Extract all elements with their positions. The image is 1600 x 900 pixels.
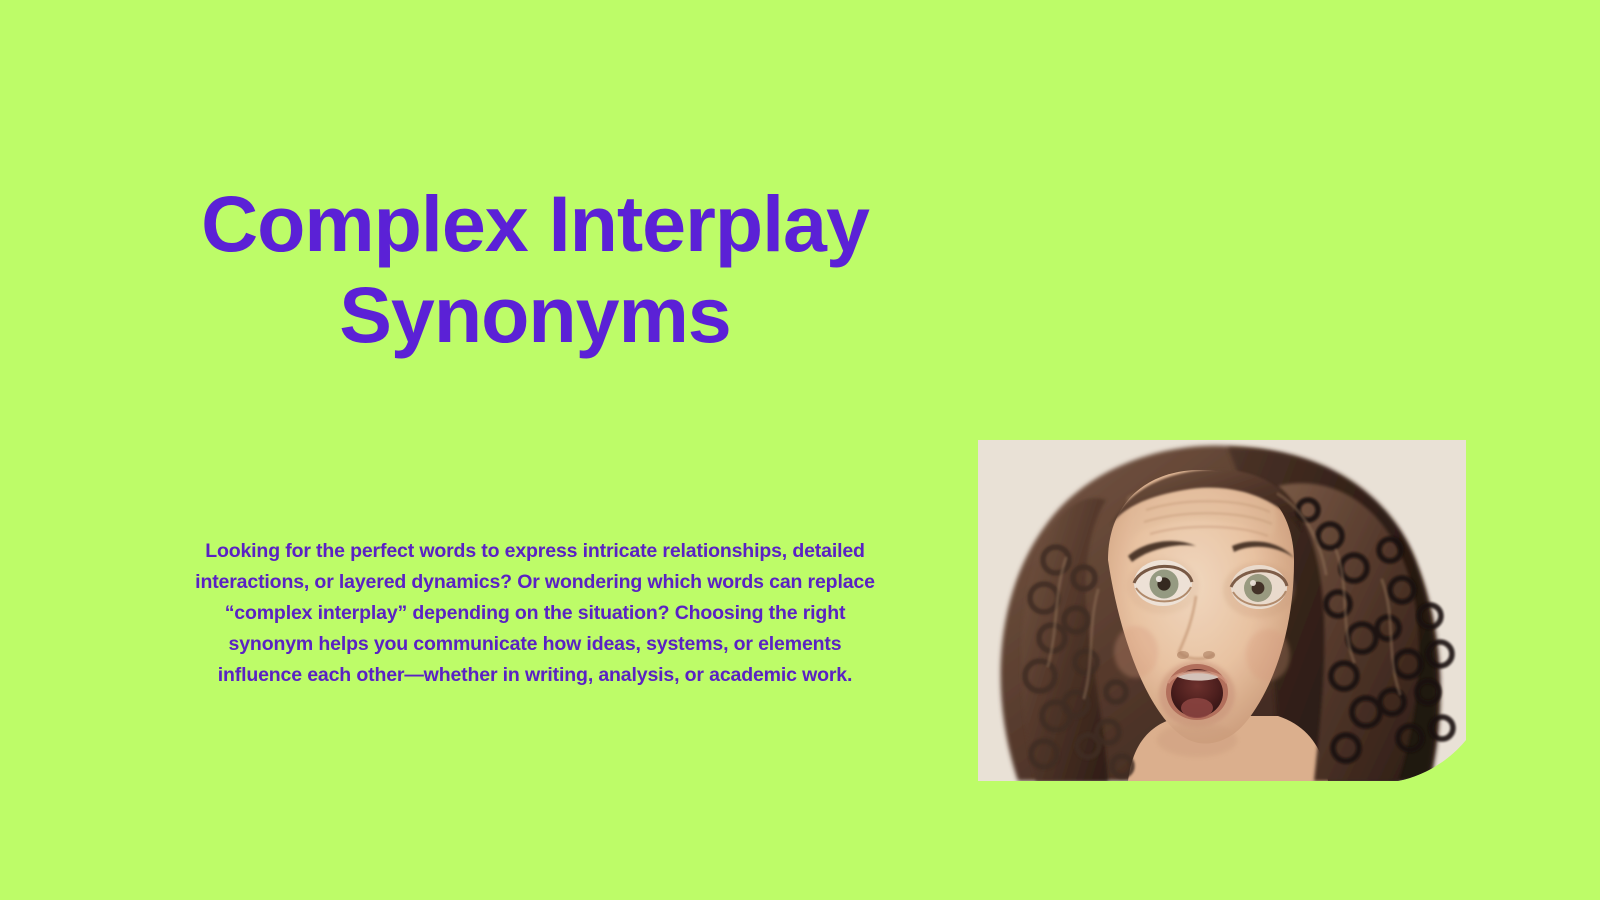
page-title: Complex Interplay Synonyms <box>120 178 950 360</box>
text-column: Complex Interplay Synonyms Looking for t… <box>0 0 1070 900</box>
intro-paragraph: Looking for the perfect words to express… <box>190 536 880 691</box>
slide-canvas: Complex Interplay Synonyms Looking for t… <box>0 0 1600 900</box>
portrait-illustration <box>978 440 1466 781</box>
portrait-photo <box>978 440 1466 781</box>
